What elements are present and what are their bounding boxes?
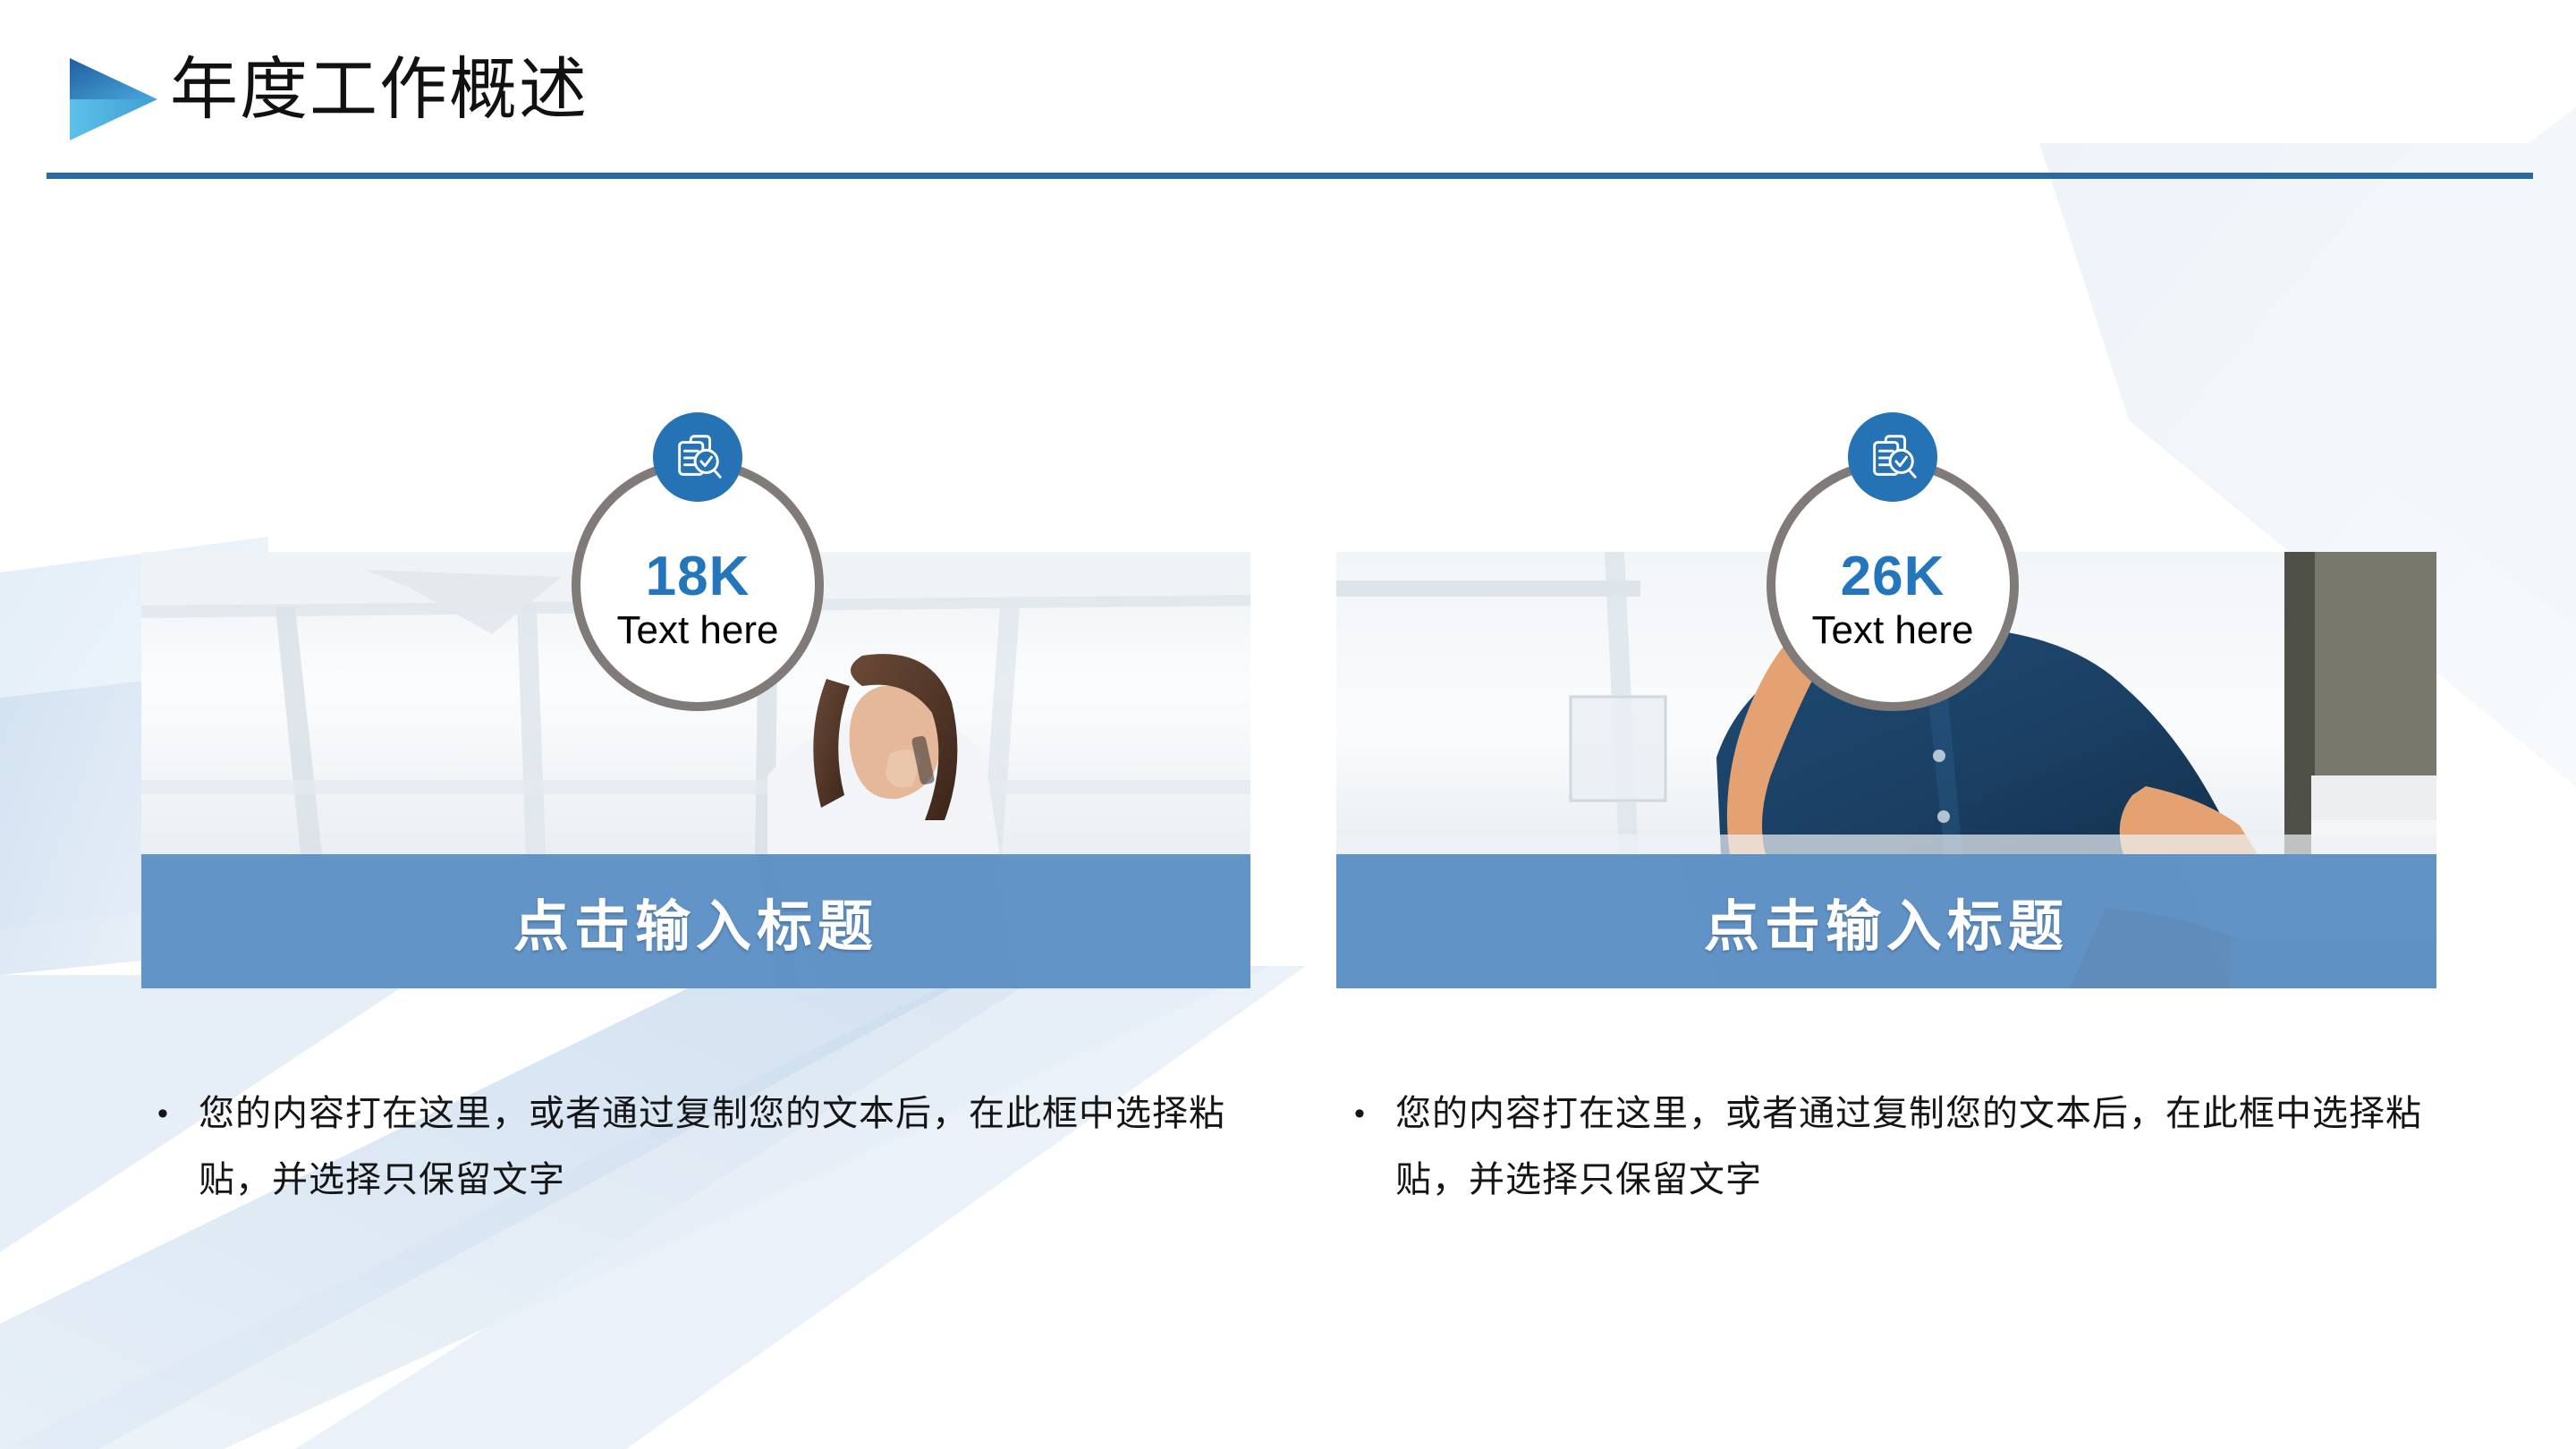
bullet-marker-icon: • xyxy=(157,1080,199,1147)
column-one-stat-badge: 18K Text here xyxy=(572,459,824,711)
column-two-bullet-text: 您的内容打在这里，或者通过复制您的文本后，在此框中选择粘贴，并选择只保留文字 xyxy=(1395,1080,2463,1213)
column-one-bar-label: 点击输入标题 xyxy=(141,854,1250,988)
column-one-bullet-text: 您的内容打在这里，或者通过复制您的文本后，在此框中选择粘贴，并选择只保留文字 xyxy=(199,1080,1267,1213)
column-one-title-bar: 点击输入标题 xyxy=(141,854,1250,988)
content-columns: 点击输入标题 xyxy=(0,0,2576,1449)
column-two-bar-label: 点击输入标题 xyxy=(1336,854,2436,988)
column-two-stat-badge: 26K Text here xyxy=(1767,459,2019,711)
list-item: • 您的内容打在这里，或者通过复制您的文本后，在此框中选择粘贴，并选择只保留文字 xyxy=(157,1080,1267,1213)
document-search-check-icon xyxy=(1848,412,1937,502)
column-two-title-bar: 点击输入标题 xyxy=(1336,854,2436,988)
list-item: • 您的内容打在这里，或者通过复制您的文本后，在此框中选择粘贴，并选择只保留文字 xyxy=(1354,1080,2463,1213)
column-one-bullets: • 您的内容打在这里，或者通过复制您的文本后，在此框中选择粘贴，并选择只保留文字 xyxy=(157,1080,1267,1213)
bullet-marker-icon: • xyxy=(1354,1080,1395,1147)
column-one-badge-value: 18K xyxy=(646,547,750,607)
column-one-badge-caption: Text here xyxy=(617,607,779,654)
column-two-bullets: • 您的内容打在这里，或者通过复制您的文本后，在此框中选择粘贴，并选择只保留文字 xyxy=(1354,1080,2463,1213)
column-two-badge-caption: Text here xyxy=(1812,607,1974,654)
document-search-check-icon xyxy=(653,412,742,502)
column-two-badge-value: 26K xyxy=(1841,547,1945,607)
